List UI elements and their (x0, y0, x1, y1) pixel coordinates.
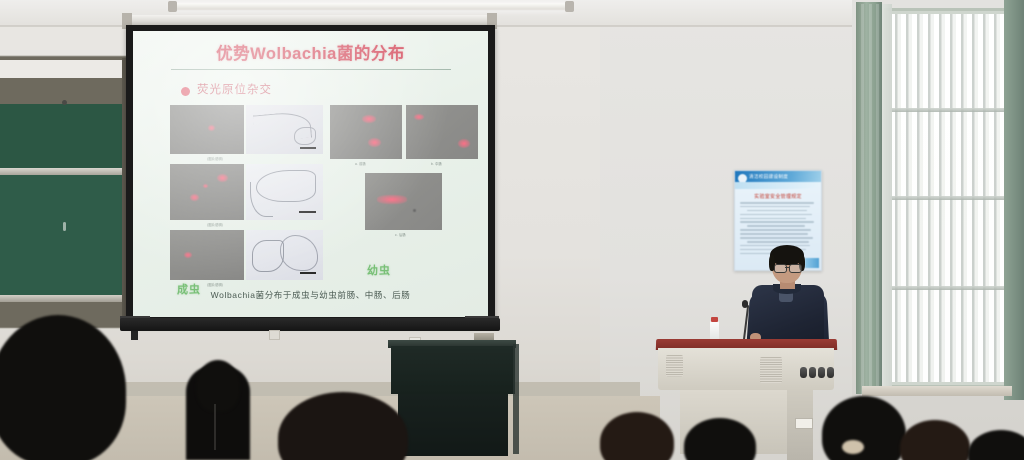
slide-panel-caption-b: b. 中肠 (431, 161, 442, 166)
slide-micro-caption-1: （图片说明） (205, 156, 225, 161)
blind-rail-1 (890, 108, 1004, 112)
glasses-lens-right-icon (789, 264, 802, 273)
lectern-knob-2[interactable] (809, 367, 816, 378)
lectern-panel-plate (795, 418, 813, 429)
chalkboard-knob (62, 100, 67, 105)
window-sill (862, 386, 1012, 396)
podium-cabinet-side (513, 344, 519, 454)
glasses-lens-left-icon (774, 264, 787, 273)
slide-label-larva: 幼虫 (367, 262, 391, 278)
water-bottle-cap (711, 317, 718, 322)
lectern-knob-4[interactable] (827, 367, 834, 378)
light-bracket-right (565, 1, 574, 12)
slide-bullet-text: 荧光原位杂交 (197, 81, 272, 97)
glasses-bridge-icon (785, 267, 789, 268)
lectern-knob-3[interactable] (818, 367, 825, 378)
poster-header-text: 清洁校园建设制度 (749, 174, 788, 180)
light-bracket-left (168, 1, 177, 12)
podium-cabinet (391, 346, 515, 394)
podium-cabinet-base (398, 394, 508, 456)
seated-student-head (196, 360, 240, 412)
slide-title-divider (171, 69, 451, 70)
slide-bottom-caption: Wolbachia菌分布于成虫与幼虫前肠、中肠、后肠 (133, 289, 488, 301)
poster-wave-graphic (735, 182, 821, 189)
fish-image-larva-b (406, 105, 478, 159)
fish-image-adult-3 (170, 230, 244, 280)
projected-slide: 优势Wolbachia菌的分布 荧光原位杂交 （图片说明） （图片说明） (133, 31, 488, 317)
microphone-head-icon (742, 300, 748, 308)
slide-title: 优势Wolbachia菌的分布 (133, 40, 488, 64)
chalkboard-rail (0, 168, 128, 175)
poster-corner-graphic (805, 258, 819, 268)
green-curtain-left[interactable] (856, 2, 882, 394)
wall-outlet-plate (269, 330, 280, 340)
chalkboard-upper-wall (0, 60, 132, 78)
screen-bottom-weight-bar (120, 318, 500, 331)
fish-image-adult-1 (170, 105, 244, 154)
lectern-speaker-grille-right (760, 357, 782, 383)
lecture-hall-screenshot: 优势Wolbachia菌的分布 荧光原位杂交 （图片说明） （图片说明） (0, 0, 1024, 460)
slide-micro-caption-2: （图片说明） (205, 222, 225, 227)
fluorescent-tube-light (170, 3, 570, 10)
slide-micro-caption-3: （图片说明） (205, 282, 225, 287)
chalkboard-panel-upper (0, 104, 124, 168)
anatomy-drawing-adult-3 (246, 230, 323, 280)
green-curtain-right[interactable] (1004, 0, 1024, 400)
anatomy-drawing-adult-2 (246, 164, 323, 220)
lectern-speaker-grille-left (666, 355, 683, 377)
bullet-dot-icon (181, 87, 190, 96)
water-bottle (710, 321, 719, 341)
fish-image-larva-a (330, 105, 402, 159)
bag-strap (214, 404, 216, 450)
blind-rail-3 (890, 286, 1004, 290)
lectern-knob-1[interactable] (800, 367, 807, 378)
lectern-body (658, 348, 834, 390)
fish-image-larva-c (365, 173, 442, 230)
poster-title: 实验室安全管理规定 (735, 193, 821, 200)
chalk-mark (63, 222, 66, 231)
chalkboard-panel-lower (0, 175, 124, 295)
slide-panel-caption-a: a. 前肠 (355, 161, 366, 166)
anatomy-drawing-adult-1 (246, 105, 323, 154)
hair-tie (842, 440, 864, 454)
fish-image-adult-2 (170, 164, 244, 220)
chalkboard-tray (0, 295, 128, 302)
blind-rail-2 (890, 196, 1004, 200)
slide-panel-caption-c: c. 后肠 (395, 232, 406, 237)
